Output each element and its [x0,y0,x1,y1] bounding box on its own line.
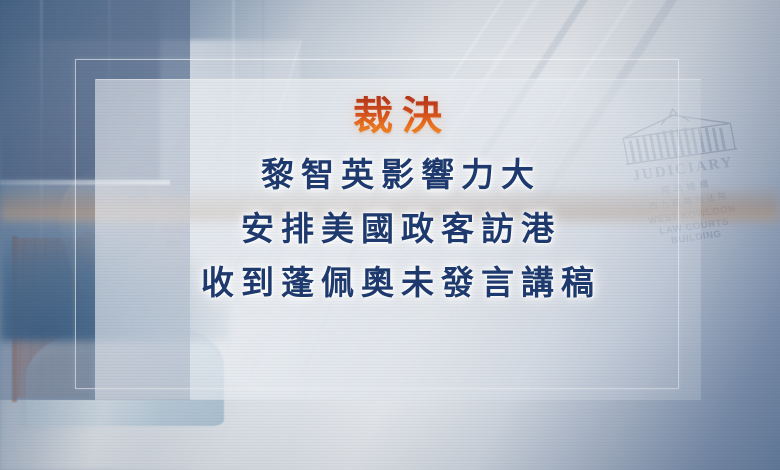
caption-block: 裁決 黎智英影響力大 安排美國政客訪港 收到蓬佩奧未發言講稿 [95,79,700,399]
page-title: 裁決 [344,96,451,136]
caption-lines: 黎智英影響力大 安排美國政客訪港 收到蓬佩奧未發言講稿 [194,158,601,299]
broadcast-graphic: JUDICIARY 司法機構 西九龍裁判法院 WEST KOWLOON LAW … [0,0,780,470]
caption-line-2: 安排美國政客訪港 [234,212,561,245]
caption-line-1: 黎智英影響力大 [254,158,541,191]
caption-line-3: 收到蓬佩奧未發言講稿 [194,266,601,299]
